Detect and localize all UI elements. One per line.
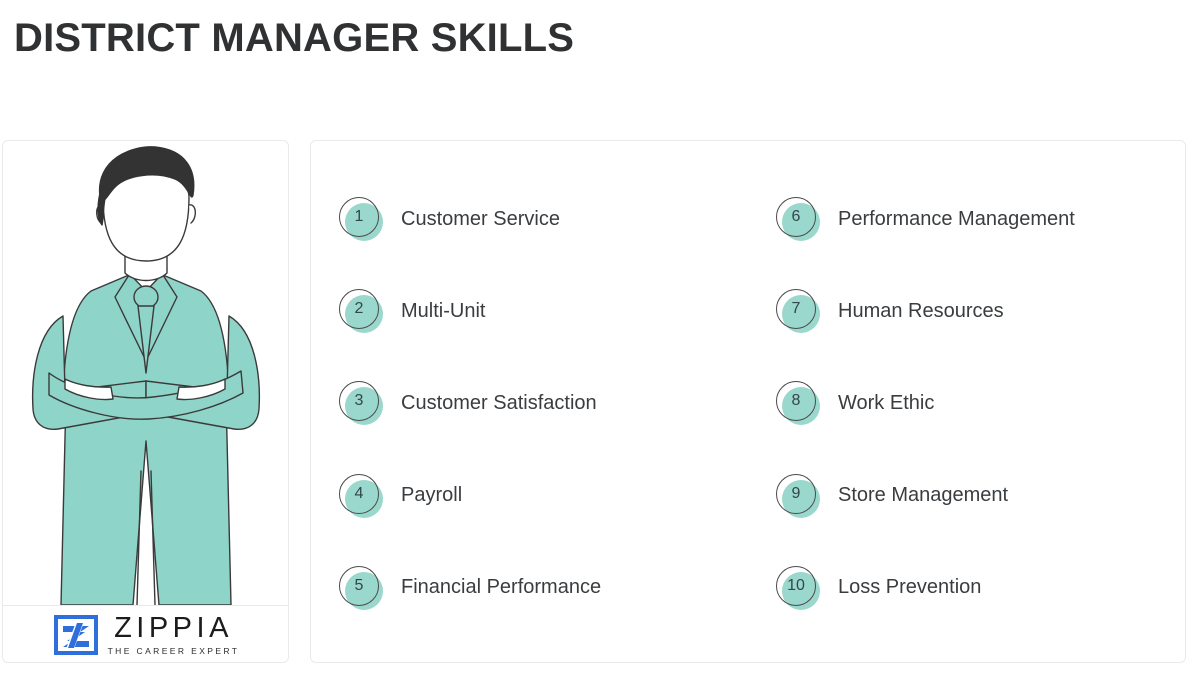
rank-number: 3 — [339, 381, 379, 421]
businessman-arms-crossed-icon — [3, 141, 289, 605]
zippia-z-mark-icon — [54, 613, 98, 657]
rank-badge-1: 1 — [339, 197, 383, 241]
skill-label: Customer Satisfaction — [401, 392, 597, 415]
rank-number: 4 — [339, 474, 379, 514]
infographic-page: DISTRICT MANAGER SKILLS — [0, 0, 1200, 675]
rank-badge-4: 4 — [339, 474, 383, 518]
illustration-card: ZIPPIA THE CAREER EXPERT — [2, 140, 289, 663]
skill-item-1[interactable]: 1 Customer Service — [311, 173, 748, 265]
rank-number: 7 — [776, 289, 816, 329]
skill-item-2[interactable]: 2 Multi-Unit — [311, 265, 748, 357]
rank-badge-7: 7 — [776, 289, 820, 333]
rank-number: 5 — [339, 566, 379, 606]
rank-badge-2: 2 — [339, 289, 383, 333]
skills-list: 1 Customer Service 2 Multi-Unit 3 Cus — [311, 141, 1185, 662]
skill-label: Customer Service — [401, 208, 560, 231]
rank-badge-8: 8 — [776, 381, 820, 425]
rank-badge-9: 9 — [776, 474, 820, 518]
skill-item-4[interactable]: 4 Payroll — [311, 450, 748, 542]
zippia-tagline: THE CAREER EXPERT — [108, 646, 240, 656]
skill-item-6[interactable]: 6 Performance Management — [748, 173, 1185, 265]
skill-label: Payroll — [401, 484, 462, 507]
zippia-wordmark: ZIPPIA — [114, 614, 233, 643]
rank-number: 9 — [776, 474, 816, 514]
skill-label: Financial Performance — [401, 576, 601, 599]
businessman-illustration — [3, 141, 289, 605]
rank-number: 1 — [339, 197, 379, 237]
skill-label: Multi-Unit — [401, 300, 485, 323]
skills-card: 1 Customer Service 2 Multi-Unit 3 Cus — [310, 140, 1186, 663]
rank-number: 8 — [776, 381, 816, 421]
zippia-logo: ZIPPIA THE CAREER EXPERT — [3, 606, 289, 663]
rank-number: 6 — [776, 197, 816, 237]
skill-item-3[interactable]: 3 Customer Satisfaction — [311, 357, 748, 449]
skill-item-5[interactable]: 5 Financial Performance — [311, 542, 748, 634]
skill-label: Human Resources — [838, 300, 1004, 323]
skill-label: Loss Prevention — [838, 576, 981, 599]
skill-label: Work Ethic — [838, 392, 934, 415]
rank-badge-5: 5 — [339, 566, 383, 610]
page-title: DISTRICT MANAGER SKILLS — [14, 16, 574, 61]
skill-item-7[interactable]: 7 Human Resources — [748, 265, 1185, 357]
rank-number: 2 — [339, 289, 379, 329]
rank-badge-10: 10 — [776, 566, 820, 610]
skill-item-8[interactable]: 8 Work Ethic — [748, 357, 1185, 449]
rank-number: 10 — [776, 566, 816, 606]
skill-item-10[interactable]: 10 Loss Prevention — [748, 542, 1185, 634]
rank-badge-3: 3 — [339, 381, 383, 425]
rank-badge-6: 6 — [776, 197, 820, 241]
skill-label: Performance Management — [838, 208, 1075, 231]
skill-item-9[interactable]: 9 Store Management — [748, 450, 1185, 542]
skill-label: Store Management — [838, 484, 1008, 507]
